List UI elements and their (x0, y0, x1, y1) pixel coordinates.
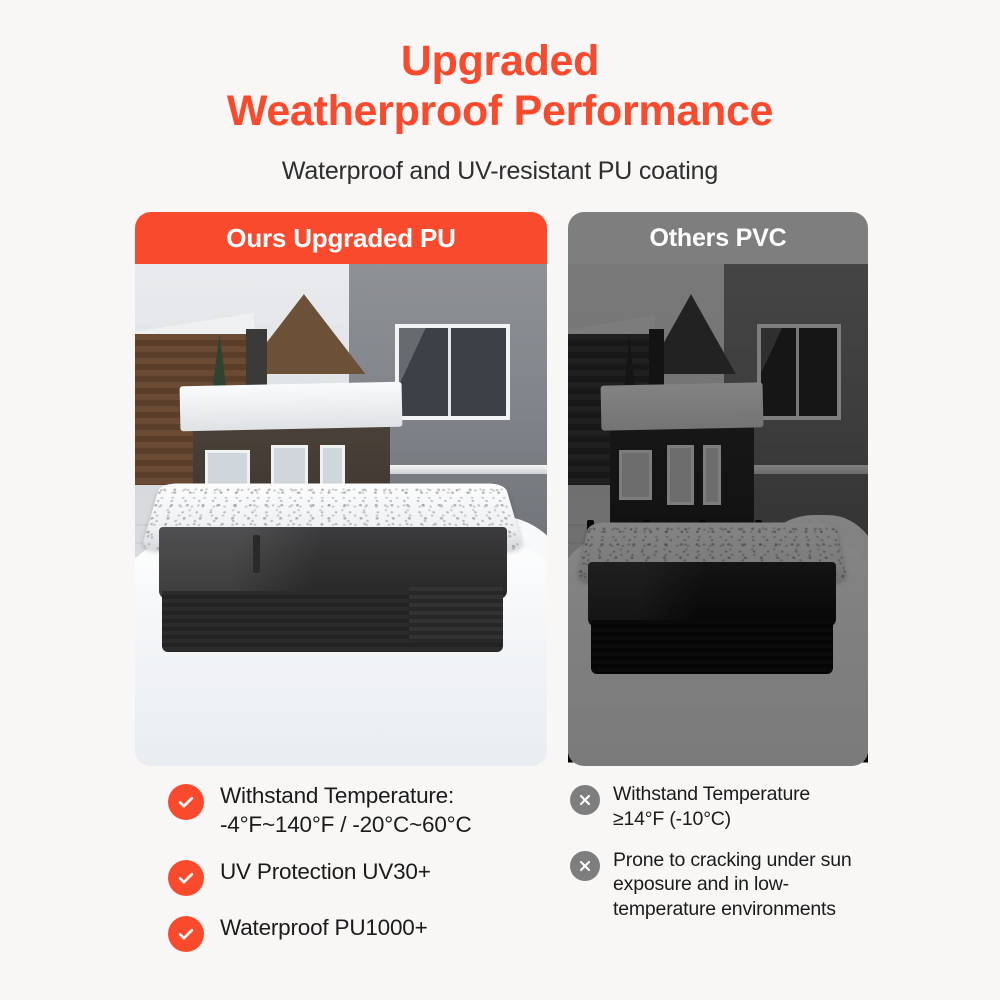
check-icon (168, 860, 204, 896)
cross-icon (570, 785, 600, 815)
panel-ours-header: Ours Upgraded PU (135, 212, 547, 264)
cross-icon (570, 851, 600, 881)
hot-tub-with-cover (583, 515, 841, 696)
page-headline: Upgraded Weatherproof Performance (0, 0, 1000, 137)
check-icon (168, 784, 204, 820)
porch-window-2 (667, 445, 694, 505)
house-window (395, 324, 510, 419)
snow-scene-color (135, 264, 547, 766)
check-icon (168, 916, 204, 952)
porch-snow-roof (601, 383, 764, 432)
list-item: Withstand Temperature: -4°F~140°F / -20°… (168, 782, 548, 840)
page-subtitle: Waterproof and UV-resistant PU coating (0, 157, 1000, 186)
cover-strap (253, 535, 260, 567)
panel-ours: Ours Upgraded PU (135, 212, 547, 766)
list-item: Prone to cracking under sun exposure and… (570, 848, 900, 922)
list-item: UV Protection UV30+ (168, 858, 548, 896)
list-item: Waterproof PU1000+ (168, 914, 548, 952)
headline-line-1: Upgraded (0, 36, 1000, 86)
ours-feature-list: Withstand Temperature: -4°F~140°F / -20°… (168, 782, 548, 970)
list-item-label: Withstand Temperature: -4°F~140°F / -20°… (220, 782, 472, 840)
black-pvc-cover (588, 562, 836, 627)
hot-tub-cabinet-side (409, 587, 503, 643)
snow-scene-grayscale (568, 264, 868, 766)
panel-others: Others PVC (568, 212, 868, 766)
others-feature-list: Withstand Temperature ≥14°F (-10°C) Pron… (570, 782, 900, 938)
porch-window-3 (703, 445, 721, 505)
panel-others-photo (568, 264, 868, 766)
list-item-label: Waterproof PU1000+ (220, 914, 428, 943)
house-window (757, 324, 841, 419)
porch-window-1 (619, 450, 652, 500)
hot-tub-with-cover (151, 475, 514, 676)
list-item-label: UV Protection UV30+ (220, 858, 431, 887)
porch-snow-roof (180, 382, 403, 432)
headline-line-2: Weatherproof Performance (0, 86, 1000, 136)
comparison-panels: Ours Upgraded PU (0, 212, 1000, 766)
list-item: Withstand Temperature ≥14°F (-10°C) (570, 782, 900, 832)
panel-others-header: Others PVC (568, 212, 868, 264)
list-item-label: Withstand Temperature ≥14°F (-10°C) (613, 782, 810, 832)
hot-tub-cabinet (591, 620, 834, 674)
list-item-label: Prone to cracking under sun exposure and… (613, 848, 863, 922)
panel-ours-photo (135, 264, 547, 766)
